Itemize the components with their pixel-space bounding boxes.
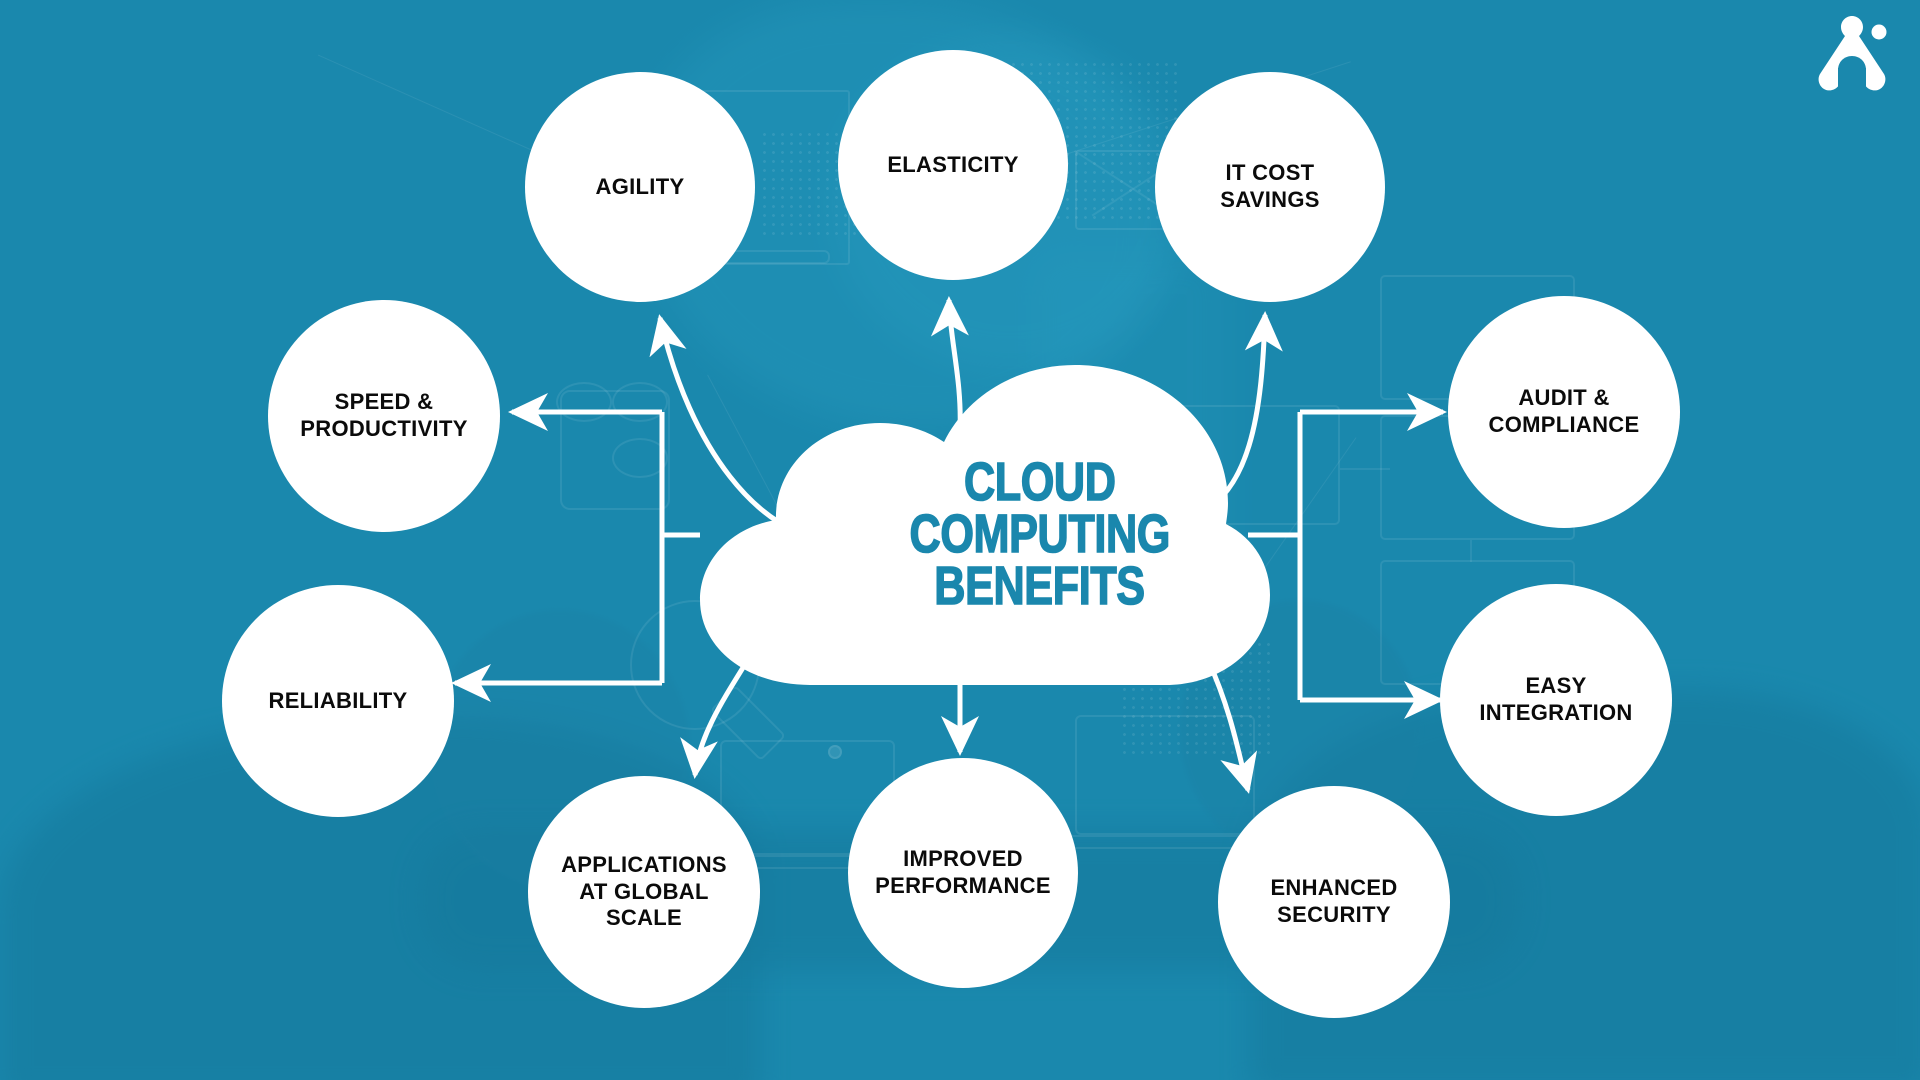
node-agility[interactable]: AGILITY <box>525 72 755 302</box>
brand-logo-icon <box>1806 8 1898 96</box>
node-applications-global-scale[interactable]: APPLICATIONS AT GLOBAL SCALE <box>528 776 760 1008</box>
node-improved-performance[interactable]: IMPROVED PERFORMANCE <box>848 758 1078 988</box>
node-speed-productivity[interactable]: SPEED & PRODUCTIVITY <box>268 300 500 532</box>
node-elasticity-label: ELASTICITY <box>871 152 1034 179</box>
node-it-cost-savings-label: IT COST SAVINGS <box>1204 160 1336 214</box>
node-agility-label: AGILITY <box>580 174 701 201</box>
node-speed-productivity-label: SPEED & PRODUCTIVITY <box>284 389 483 443</box>
cloud-title-line-3: BENEFITS <box>935 561 1145 613</box>
node-audit-compliance-label: AUDIT & COMPLIANCE <box>1473 385 1656 439</box>
cloud-center: CLOUD COMPUTING BENEFITS <box>700 370 1260 700</box>
node-reliability[interactable]: RELIABILITY <box>222 585 454 817</box>
node-enhanced-security-label: ENHANCED SECURITY <box>1254 875 1413 929</box>
node-audit-compliance[interactable]: AUDIT & COMPLIANCE <box>1448 296 1680 528</box>
node-improved-performance-label: IMPROVED PERFORMANCE <box>859 846 1067 900</box>
cloud-title: CLOUD COMPUTING BENEFITS <box>700 370 1260 700</box>
infographic-canvas: CLOUD COMPUTING BENEFITS AGILITY ELASTIC… <box>0 0 1920 1080</box>
node-it-cost-savings[interactable]: IT COST SAVINGS <box>1155 72 1385 302</box>
node-elasticity[interactable]: ELASTICITY <box>838 50 1068 280</box>
node-easy-integration-label: EASY INTEGRATION <box>1463 673 1648 727</box>
cloud-title-line-2: COMPUTING <box>910 509 1170 561</box>
node-applications-global-scale-label: APPLICATIONS AT GLOBAL SCALE <box>545 852 743 932</box>
node-reliability-label: RELIABILITY <box>253 688 424 715</box>
node-easy-integration[interactable]: EASY INTEGRATION <box>1440 584 1672 816</box>
cloud-title-line-1: CLOUD <box>964 457 1116 509</box>
node-enhanced-security[interactable]: ENHANCED SECURITY <box>1218 786 1450 1018</box>
